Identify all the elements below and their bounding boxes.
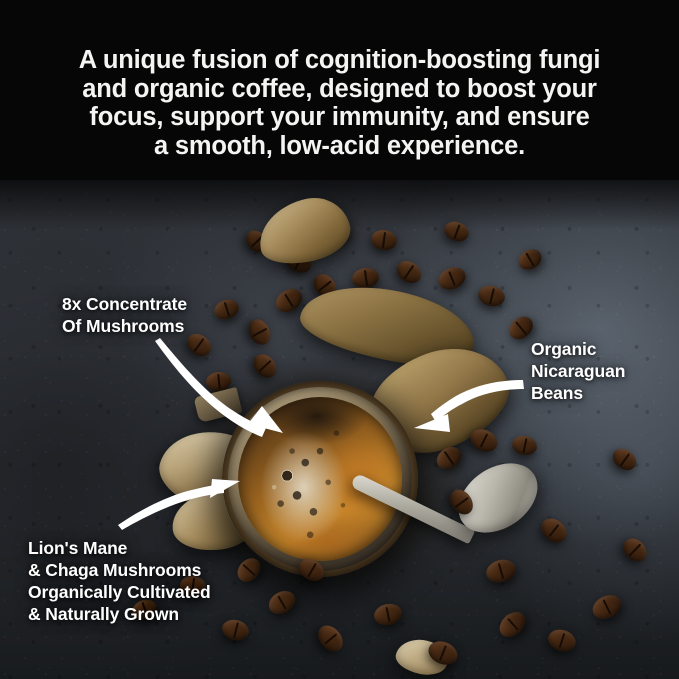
- coffee-bean: [442, 218, 472, 244]
- headline-text: A unique fusion of cognition-boosting fu…: [60, 46, 620, 160]
- coffee-bean: [212, 297, 242, 323]
- coffee-bean: [545, 626, 578, 655]
- coffee-bean: [609, 444, 640, 474]
- coffee-bean: [515, 245, 545, 273]
- callout-label-mushrooms: Lion's Mane & Chaga Mushrooms Organicall…: [28, 537, 211, 625]
- coffee-bean: [393, 256, 426, 287]
- coffee-bean: [244, 315, 274, 348]
- coffee-bean: [619, 534, 652, 566]
- coffee-bean: [510, 434, 538, 458]
- dried-mushroom-slice: [253, 191, 356, 271]
- coffee-bean: [495, 607, 531, 642]
- coffee-bean: [476, 283, 507, 309]
- coffee-bean: [220, 617, 251, 643]
- coffee-bean: [435, 264, 469, 294]
- coffee-mug: [222, 381, 418, 577]
- callout-label-concentrate: 8x Concentrate Of Mushrooms: [62, 293, 187, 337]
- coffee-bean: [249, 350, 281, 383]
- espresso-crema: [238, 397, 402, 561]
- product-infographic: 8x Concentrate Of Mushrooms Organic Nica…: [0, 0, 679, 679]
- callout-label-beans: Organic Nicaraguan Beans: [531, 338, 625, 404]
- coffee-bean: [265, 586, 300, 618]
- coffee-bean: [313, 621, 348, 657]
- coffee-bean: [370, 228, 399, 251]
- header-band: A unique fusion of cognition-boosting fu…: [0, 0, 679, 180]
- coffee-bean: [183, 329, 216, 360]
- coffee-bean: [589, 591, 626, 624]
- coffee-bean: [484, 556, 519, 585]
- coffee-bean: [351, 266, 381, 290]
- coffee-bean: [372, 601, 404, 627]
- mug-handle: [194, 387, 243, 423]
- coffee-bean: [537, 514, 572, 548]
